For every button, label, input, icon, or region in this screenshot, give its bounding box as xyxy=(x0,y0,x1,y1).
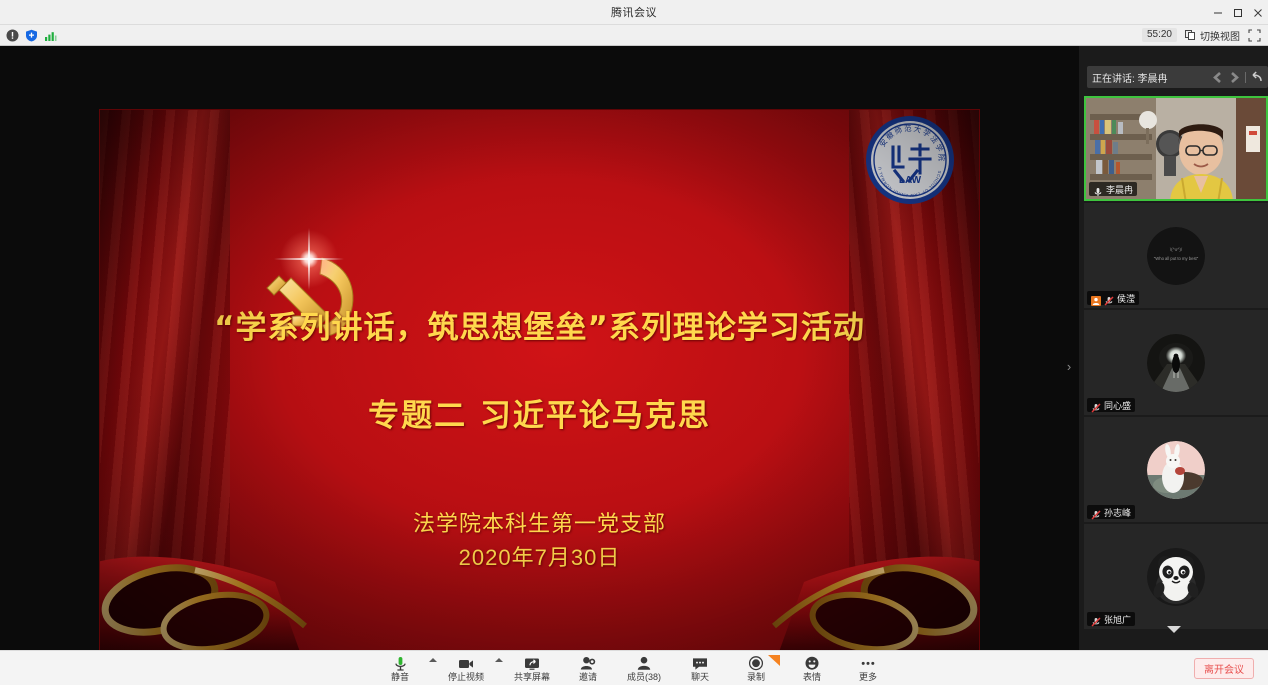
record-icon xyxy=(748,656,764,671)
speaking-indicator: 正在讲话: 李晨冉 xyxy=(1087,66,1268,88)
minimize-button[interactable] xyxy=(1208,0,1228,25)
scroll-decoration-right xyxy=(769,542,979,650)
chevron-right-icon[interactable] xyxy=(1228,71,1241,84)
record-button[interactable]: 录制 xyxy=(728,651,784,685)
host-badge-icon xyxy=(1091,293,1101,303)
record-label: 录制 xyxy=(747,672,765,682)
participant-tiles: 李晨冉 \(^o^)/ "Who all put to my best" xyxy=(1084,96,1268,631)
members-icon xyxy=(636,656,652,671)
participant-name-tag: 李晨冉 xyxy=(1089,182,1137,196)
security-shield-icon[interactable] xyxy=(25,29,38,42)
slide-title: “学系列讲话，筑思想堡垒”系列理论学习活动 xyxy=(100,302,979,347)
video-options-caret[interactable] xyxy=(494,651,504,685)
mic-on-icon xyxy=(1093,184,1103,194)
participant-name-tag: 同心盛 xyxy=(1087,398,1135,412)
leave-meeting-button[interactable]: 离开会议 xyxy=(1194,658,1254,679)
invite-person-icon xyxy=(580,656,596,671)
mute-options-caret[interactable] xyxy=(428,651,438,685)
participant-tile-2[interactable]: \(^o^)/ "Who all put to my best" xyxy=(1084,203,1268,308)
participant-name-tag: 侯滢 xyxy=(1087,291,1139,305)
star-sparkle-icon xyxy=(274,228,344,290)
share-screen-button[interactable]: 共享屏幕 xyxy=(504,651,560,685)
mic-muted-icon xyxy=(1104,293,1114,303)
toolbar-right-group: 55:20 切换视图 xyxy=(1142,28,1268,43)
participant-name: 李晨冉 xyxy=(1106,183,1133,196)
mic-muted-icon xyxy=(1091,400,1101,410)
participant-name: 同心盛 xyxy=(1104,399,1131,412)
tencent-meeting-window: 腾讯会议 xyxy=(0,0,1268,685)
mute-label: 静音 xyxy=(391,672,409,682)
mic-muted-icon xyxy=(1091,507,1101,517)
invite-label: 邀请 xyxy=(579,672,597,682)
switch-view-label: 切换视图 xyxy=(1200,28,1240,43)
presentation-slide: 安徽师范大学法学院 SCHOOL OF LAW ANHUI NORMAL UNI… xyxy=(99,109,980,650)
more-label: 更多 xyxy=(859,672,877,682)
emoji-label: 表情 xyxy=(803,672,821,682)
svg-text:\(^o^)/: \(^o^)/ xyxy=(1170,247,1183,252)
maximize-button[interactable] xyxy=(1228,0,1248,25)
more-button[interactable]: 更多 xyxy=(840,651,896,685)
window-title: 腾讯会议 xyxy=(611,4,657,20)
share-screen-label: 共享屏幕 xyxy=(514,672,550,682)
members-label: 成员(38) xyxy=(627,672,661,682)
title-bar: 腾讯会议 xyxy=(0,0,1268,25)
emoji-button[interactable]: 表情 xyxy=(784,651,840,685)
record-new-badge-icon xyxy=(768,653,780,664)
panel-nav-group xyxy=(1211,71,1263,84)
stop-video-label: 停止视频 xyxy=(448,672,484,682)
participant-name: 侯滢 xyxy=(1117,292,1135,305)
participant-avatar: \(^o^)/ "Who all put to my best" xyxy=(1147,227,1205,285)
participant-avatar xyxy=(1147,334,1205,392)
emoji-icon xyxy=(804,656,820,671)
network-signal-icon[interactable] xyxy=(44,29,57,42)
svg-text:"Who all put to my best": "Who all put to my best" xyxy=(1154,256,1199,261)
participant-name: 孙志峰 xyxy=(1104,506,1131,519)
participant-avatar xyxy=(1147,441,1205,499)
info-icon[interactable] xyxy=(6,29,19,42)
return-arrow-icon[interactable] xyxy=(1250,71,1263,84)
chevron-left-icon[interactable] xyxy=(1211,71,1224,84)
meeting-control-bar: 静音 停止视频 xyxy=(0,650,1268,685)
fullscreen-icon[interactable] xyxy=(1248,29,1261,42)
participant-tile-3[interactable]: 同心盛 xyxy=(1084,310,1268,415)
svg-text:LAW: LAW xyxy=(899,175,922,186)
speaking-label: 正在讲话: 李晨冉 xyxy=(1092,70,1168,85)
switch-view-button[interactable]: 切换视图 xyxy=(1185,28,1240,43)
scroll-down-arrow-icon[interactable] xyxy=(1079,624,1268,637)
nav-separator xyxy=(1245,72,1246,83)
view-grid-icon xyxy=(1185,29,1197,41)
shared-screen-stage: 安徽师范大学法学院 SCHOOL OF LAW ANHUI NORMAL UNI… xyxy=(0,46,1079,650)
meeting-timer: 55:20 xyxy=(1142,28,1177,42)
window-controls xyxy=(1208,0,1268,25)
mute-button[interactable]: 静音 xyxy=(372,651,428,685)
participant-tile-5[interactable]: 张旭广 xyxy=(1084,524,1268,629)
slide-subtitle: 专题二 习近平论马克思 xyxy=(100,390,979,435)
stage-next-arrow[interactable]: › xyxy=(1063,357,1075,377)
chat-bubble-icon xyxy=(692,656,708,671)
more-dots-icon xyxy=(860,656,876,671)
camera-icon xyxy=(458,656,474,671)
microphone-icon xyxy=(393,656,408,671)
participant-panel: 正在讲话: 李晨冉 xyxy=(1079,46,1268,650)
participant-name-tag: 孙志峰 xyxy=(1087,505,1135,519)
share-screen-icon xyxy=(524,656,540,671)
mic-muted-icon xyxy=(1091,614,1101,624)
chat-button[interactable]: 聊天 xyxy=(672,651,728,685)
meeting-toolbar: 55:20 切换视图 xyxy=(0,25,1268,46)
participant-tile-4[interactable]: 孙志峰 xyxy=(1084,417,1268,522)
scroll-decoration-left xyxy=(100,542,310,650)
close-button[interactable] xyxy=(1248,0,1268,25)
university-seal-icon: 安徽师范大学法学院 SCHOOL OF LAW ANHUI NORMAL UNI… xyxy=(865,115,955,205)
participant-avatar xyxy=(1147,548,1205,606)
chat-label: 聊天 xyxy=(691,672,709,682)
slide-organization: 法学院本科生第一党支部 xyxy=(100,506,979,538)
toolbar-status-icons xyxy=(0,29,57,42)
control-buttons-group: 静音 停止视频 xyxy=(372,651,896,685)
stop-video-button[interactable]: 停止视频 xyxy=(438,651,494,685)
members-button[interactable]: 成员(38) xyxy=(616,651,672,685)
participant-tile-1[interactable]: 李晨冉 xyxy=(1084,96,1268,201)
invite-button[interactable]: 邀请 xyxy=(560,651,616,685)
